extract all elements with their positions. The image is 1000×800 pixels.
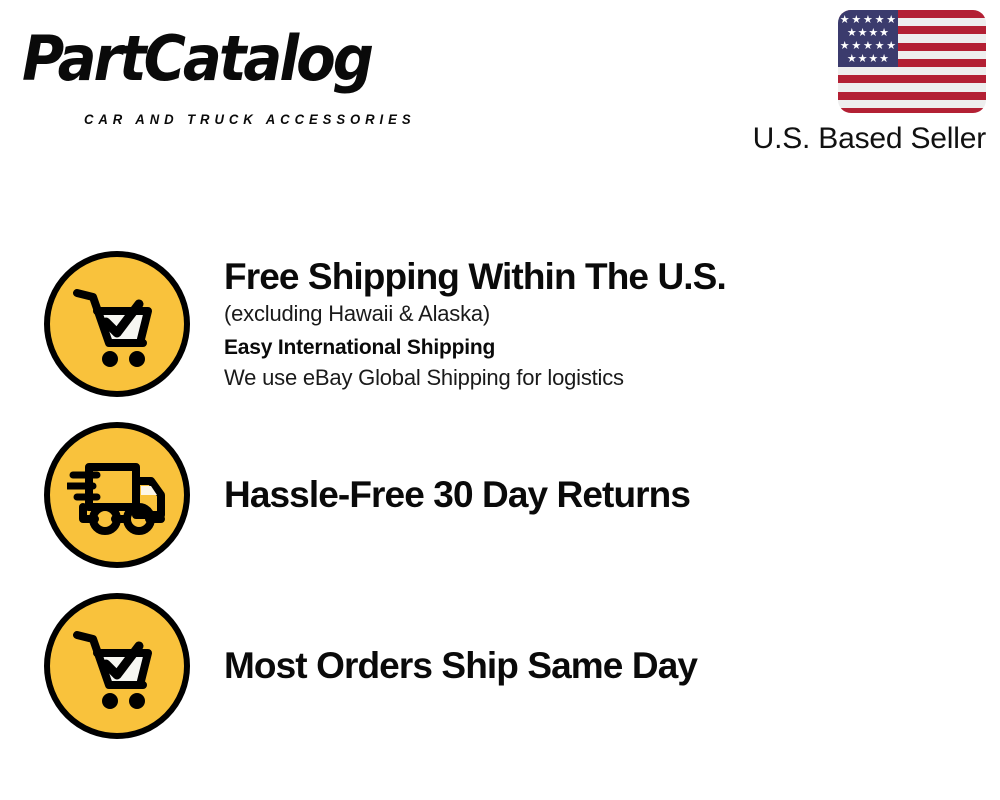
feature-sub-heading: Easy International Shipping (224, 333, 980, 363)
delivery-truck-icon (44, 422, 190, 568)
flag-star-icon: ★ (868, 54, 878, 65)
brand-tagline: CAR AND TRUCK ACCESSORIES (84, 112, 416, 128)
flag-star-row: ★ ★ ★ ★ (838, 54, 898, 65)
shopping-cart-check-icon (44, 251, 190, 397)
feature-title: Hassle-Free 30 Day Returns (224, 472, 980, 518)
flag-star-icon: ★ (847, 54, 857, 65)
flag-star-row: ★ ★ ★ ★ (838, 28, 898, 39)
flag-star-icon: ★ (840, 41, 850, 52)
us-flag-icon: ★ ★ ★ ★ ★ ★ ★ ★ ★ ★ ★ ★ ★ ★ (838, 10, 986, 113)
feature-row: Free Shipping Within The U.S. (excluding… (0, 248, 1000, 400)
flag-stripe (838, 83, 986, 91)
flag-star-icon: ★ (879, 28, 889, 39)
flag-star-icon: ★ (886, 15, 896, 26)
page-header: PartCatalog CAR AND TRUCK ACCESSORIES ★ … (0, 0, 1000, 170)
brand-wordmark: PartCatalog (22, 22, 371, 96)
feature-sub-detail: We use eBay Global Shipping for logistic… (224, 363, 980, 393)
feature-text: Hassle-Free 30 Day Returns (224, 472, 1000, 518)
flag-star-icon: ★ (840, 15, 850, 26)
feature-icon-wrap (41, 251, 193, 397)
feature-row: Most Orders Ship Same Day (0, 590, 1000, 742)
flag-star-icon: ★ (863, 41, 873, 52)
flag-star-icon: ★ (851, 41, 861, 52)
shopping-cart-check-icon (44, 593, 190, 739)
flag-star-icon: ★ (875, 15, 885, 26)
feature-title: Most Orders Ship Same Day (224, 643, 980, 689)
flag-star-row: ★ ★ ★ ★ ★ (838, 41, 898, 52)
feature-subtitle: (excluding Hawaii & Alaska) (224, 299, 980, 329)
us-based-seller-badge: ★ ★ ★ ★ ★ ★ ★ ★ ★ ★ ★ ★ ★ ★ (716, 10, 986, 156)
flag-star-icon: ★ (863, 15, 873, 26)
feature-row: Hassle-Free 30 Day Returns (0, 419, 1000, 571)
flag-stripe (838, 75, 986, 83)
flag-star-icon: ★ (851, 15, 861, 26)
feature-title: Free Shipping Within The U.S. (224, 255, 980, 299)
seller-badge-label: U.S. Based Seller (716, 122, 986, 156)
flag-star-icon: ★ (875, 41, 885, 52)
flag-star-icon: ★ (847, 28, 857, 39)
flag-stripe (838, 100, 986, 108)
feature-icon-wrap (41, 593, 193, 739)
flag-star-icon: ★ (879, 54, 889, 65)
flag-stripe (838, 92, 986, 100)
flag-star-icon: ★ (858, 28, 868, 39)
flag-star-row: ★ ★ ★ ★ ★ (838, 15, 898, 26)
flag-stripe (838, 108, 986, 113)
brand-logo[interactable]: PartCatalog CAR AND TRUCK ACCESSORIES (22, 22, 492, 117)
flag-star-icon: ★ (868, 28, 878, 39)
flag-canton: ★ ★ ★ ★ ★ ★ ★ ★ ★ ★ ★ ★ ★ ★ (838, 10, 898, 67)
feature-text: Most Orders Ship Same Day (224, 643, 1000, 689)
feature-icon-wrap (41, 422, 193, 568)
flag-star-icon: ★ (858, 54, 868, 65)
feature-text: Free Shipping Within The U.S. (excluding… (224, 255, 1000, 393)
flag-stripe (838, 67, 986, 75)
flag-star-icon: ★ (886, 41, 896, 52)
